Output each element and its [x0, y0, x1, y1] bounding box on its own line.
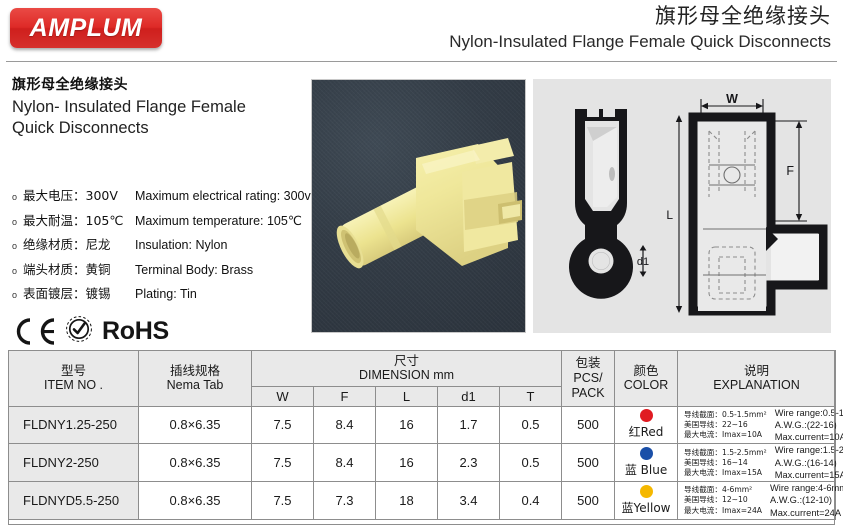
col-pack-cn: 包装	[563, 355, 613, 370]
col-color-en: COLOR	[616, 378, 676, 393]
explanation-en: Wire range:4-6mm² A.W.G.:(12-10) Max.cur…	[770, 482, 843, 519]
table-row: FLDNY2-250 0.8×6.35 7.5 8.4 16 2.3 0.5 5…	[9, 444, 836, 482]
page-header: AMPLUM 旗形母全绝缘接头 Nylon-Insulated Flange F…	[0, 0, 843, 62]
datasheet-page: AMPLUM 旗形母全绝缘接头 Nylon-Insulated Flange F…	[0, 0, 843, 525]
col-pack-en1: PCS/	[563, 371, 613, 386]
expl-cn-line3: 最大电流：Imax=10A	[684, 430, 767, 440]
col-dimension-cn: 尺寸	[253, 353, 560, 368]
outline-view: L W	[666, 92, 823, 313]
expl-cn-line1: 导线截面：0.5-1.5mm²	[684, 410, 767, 420]
explanation-cn: 导线截面：4-6mm² 美国导线：12~10 最大电流：Imax=24A	[684, 485, 762, 515]
cell-l: 16	[376, 444, 438, 482]
col-expl-en: EXPLANATION	[679, 378, 834, 393]
color-dot-icon	[640, 409, 653, 422]
dimension-l	[676, 115, 682, 313]
spec-item-cn: 表面镀层：镀锡	[23, 283, 135, 302]
connector-photo-illustration	[312, 80, 526, 333]
col-d1: d1	[438, 386, 500, 406]
dimension-label-w: W	[726, 92, 738, 106]
spec-item-cn: 最大耐温：105℃	[23, 210, 135, 229]
ce-mark-icon	[12, 317, 58, 346]
col-dimension-group: 尺寸 DIMENSION mm	[252, 351, 562, 387]
spec-item-en: Plating: Tin	[135, 287, 197, 301]
spec-item-cn: 端头材质：黄铜	[23, 259, 135, 278]
cell-d1: 2.3	[438, 444, 500, 482]
certification-marks: RoHS	[12, 316, 304, 346]
technical-drawings: d1 L	[533, 79, 831, 333]
expl-en-line2: A.W.G.:(22-16)	[775, 419, 843, 431]
cell-d1: 3.4	[438, 482, 500, 520]
cell-explanation: 导线截面：4-6mm² 美国导线：12~10 最大电流：Imax=24A Wir…	[678, 482, 836, 520]
content-area: 旗形母全绝缘接头 Nylon- Insulated Flange Female …	[0, 66, 843, 344]
explanation-cn: 导线截面：1.5-2.5mm² 美国导线：16~14 最大电流：Imax=15A	[684, 448, 767, 478]
cell-w: 7.5	[252, 482, 314, 520]
spec-item-plating: o 表面镀层：镀锡 Plating: Tin	[12, 283, 304, 302]
bullet-icon: o	[12, 289, 23, 302]
col-dimension-en: DIMENSION mm	[253, 368, 560, 383]
explanation-cn: 导线截面：0.5-1.5mm² 美国导线：22~16 最大电流：Imax=10A	[684, 410, 767, 440]
cell-w: 7.5	[252, 444, 314, 482]
explanation-en: Wire range:1.5-2.5mm² A.W.G.:(16-14) Max…	[775, 444, 843, 481]
bullet-icon: o	[12, 265, 23, 278]
expl-en-line2: A.W.G.:(16-14)	[775, 457, 843, 469]
spec-item-insulation: o 绝缘材质：尼龙 Insulation: Nylon	[12, 234, 304, 253]
dimension-label-l: L	[666, 208, 673, 222]
color-dot-icon	[640, 447, 653, 460]
col-pack-en2: PACK	[563, 386, 613, 401]
col-color: 颜色 COLOR	[615, 351, 678, 407]
cell-t: 0.4	[500, 482, 562, 520]
cell-l: 16	[376, 406, 438, 444]
cell-f: 7.3	[314, 482, 376, 520]
spec-item-terminal-body: o 端头材质：黄铜 Terminal Body: Brass	[12, 259, 304, 278]
color-label: 蓝Yellow	[617, 499, 675, 516]
bullet-icon: o	[12, 240, 23, 253]
spec-item-cn: 绝缘材质：尼龙	[23, 234, 135, 253]
specification-panel: 旗形母全绝缘接头 Nylon- Insulated Flange Female …	[12, 74, 304, 346]
table-row: FLDNYD5.5-250 0.8×6.35 7.5 7.3 18 3.4 0.…	[9, 482, 836, 520]
spec-item-en: Maximum temperature: 105℃	[135, 213, 302, 228]
spec-list: o 最大电压：300V Maximum electrical rating: 3…	[12, 185, 304, 302]
cell-item-no: FLDNY2-250	[9, 444, 139, 482]
col-nema-tab: 插线规格 Nema Tab	[139, 351, 252, 407]
expl-cn-line2: 美国导线：12~10	[684, 495, 762, 505]
expl-cn-line3: 最大电流：Imax=24A	[684, 506, 762, 516]
cell-f: 8.4	[314, 406, 376, 444]
spec-heading-en-line1: Nylon- Insulated Flange Female	[12, 97, 304, 118]
col-item-no-en: ITEM NO .	[10, 378, 137, 393]
header-titles: 旗形母全绝缘接头 Nylon-Insulated Flange Female Q…	[449, 4, 831, 52]
col-pack: 包装 PCS/ PACK	[562, 351, 615, 407]
cell-t: 0.5	[500, 406, 562, 444]
cell-w: 7.5	[252, 406, 314, 444]
dimension-drawing: d1 L	[533, 79, 831, 333]
specification-table-wrapper: 型号 ITEM NO . 插线规格 Nema Tab 尺寸 DIMENSION …	[8, 350, 835, 520]
cell-nema: 0.8×6.35	[139, 482, 252, 520]
cell-pack: 500	[562, 406, 615, 444]
cell-nema: 0.8×6.35	[139, 444, 252, 482]
cell-color: 红Red	[615, 406, 678, 444]
cell-item-no: FLDNY1.25-250	[9, 406, 139, 444]
cell-d1: 1.7	[438, 406, 500, 444]
cell-explanation: 导线截面：0.5-1.5mm² 美国导线：22~16 最大电流：Imax=10A…	[678, 406, 836, 444]
col-nema-cn: 插线规格	[140, 363, 250, 378]
expl-cn-line1: 导线截面：1.5-2.5mm²	[684, 448, 767, 458]
col-f: F	[314, 386, 376, 406]
expl-cn-line2: 美国导线：22~16	[684, 420, 767, 430]
cell-t: 0.5	[500, 444, 562, 482]
cell-color: 蓝Yellow	[615, 482, 678, 520]
expl-cn-line2: 美国导线：16~14	[684, 458, 767, 468]
explanation-en: Wire range:0.5-1.5mm² A.W.G.:(22-16) Max…	[775, 407, 843, 444]
cell-explanation: 导线截面：1.5-2.5mm² 美国导线：16~14 最大电流：Imax=15A…	[678, 444, 836, 482]
expl-en-line1: Wire range:4-6mm²	[770, 482, 843, 494]
spec-heading-en-line2: Quick Disconnects	[12, 118, 304, 139]
color-label: 红Red	[617, 423, 675, 440]
specification-table: 型号 ITEM NO . 插线规格 Nema Tab 尺寸 DIMENSION …	[8, 350, 836, 520]
spec-heading-en: Nylon- Insulated Flange Female Quick Dis…	[12, 97, 304, 139]
col-item-no-cn: 型号	[10, 363, 137, 378]
cell-l: 18	[376, 482, 438, 520]
spec-item-cn: 最大电压：300V	[23, 185, 135, 204]
spec-item-voltage: o 最大电压：300V Maximum electrical rating: 3…	[12, 185, 304, 204]
expl-en-line1: Wire range:1.5-2.5mm²	[775, 444, 843, 456]
brand-logo-text: AMPLUM	[30, 14, 143, 43]
cell-pack: 500	[562, 444, 615, 482]
expl-en-line3: Max.current=15A	[775, 469, 843, 481]
silhouette-view	[569, 109, 633, 299]
header-title-en: Nylon-Insulated Flange Female Quick Disc…	[449, 32, 831, 52]
spec-item-temperature: o 最大耐温：105℃ Maximum temperature: 105℃	[12, 210, 304, 229]
cell-color: 蓝 Blue	[615, 444, 678, 482]
product-photo	[311, 79, 526, 333]
dimension-label-f: F	[786, 164, 794, 178]
col-l: L	[376, 386, 438, 406]
table-head: 型号 ITEM NO . 插线规格 Nema Tab 尺寸 DIMENSION …	[9, 351, 836, 407]
sgs-check-circle-icon	[65, 316, 95, 346]
brand-logo: AMPLUM	[10, 8, 162, 48]
bullet-icon: o	[12, 216, 23, 229]
col-color-cn: 颜色	[616, 363, 676, 378]
expl-en-line3: Max.current=24A	[770, 507, 843, 519]
cell-pack: 500	[562, 482, 615, 520]
spec-item-en: Insulation: Nylon	[135, 238, 227, 252]
spec-heading-cn: 旗形母全绝缘接头	[12, 74, 304, 94]
expl-cn-line1: 导线截面：4-6mm²	[684, 485, 762, 495]
col-expl-cn: 说明	[679, 363, 834, 378]
spec-item-en: Terminal Body: Brass	[135, 263, 253, 277]
rohs-label: RoHS	[102, 317, 169, 346]
col-nema-en: Nema Tab	[140, 378, 250, 393]
table-header-row-1: 型号 ITEM NO . 插线规格 Nema Tab 尺寸 DIMENSION …	[9, 351, 836, 387]
header-divider	[6, 61, 837, 62]
expl-en-line1: Wire range:0.5-1.5mm²	[775, 407, 843, 419]
bullet-icon: o	[12, 191, 23, 204]
cell-item-no: FLDNYD5.5-250	[9, 482, 139, 520]
table-body: FLDNY1.25-250 0.8×6.35 7.5 8.4 16 1.7 0.…	[9, 406, 836, 519]
col-item-no: 型号 ITEM NO .	[9, 351, 139, 407]
color-label: 蓝 Blue	[617, 461, 675, 478]
dimension-label-d1: d1	[637, 256, 649, 268]
col-explanation: 说明 EXPLANATION	[678, 351, 836, 407]
expl-cn-line3: 最大电流：Imax=15A	[684, 468, 767, 478]
expl-en-line2: A.W.G.:(12-10)	[770, 494, 843, 506]
table-row: FLDNY1.25-250 0.8×6.35 7.5 8.4 16 1.7 0.…	[9, 406, 836, 444]
spec-item-en: Maximum electrical rating: 300volts	[135, 189, 330, 203]
expl-en-line3: Max.current=10A	[775, 431, 843, 443]
header-title-cn: 旗形母全绝缘接头	[449, 4, 831, 29]
color-dot-icon	[640, 485, 653, 498]
cell-f: 8.4	[314, 444, 376, 482]
cell-nema: 0.8×6.35	[139, 406, 252, 444]
col-t: T	[500, 386, 562, 406]
col-w: W	[252, 386, 314, 406]
